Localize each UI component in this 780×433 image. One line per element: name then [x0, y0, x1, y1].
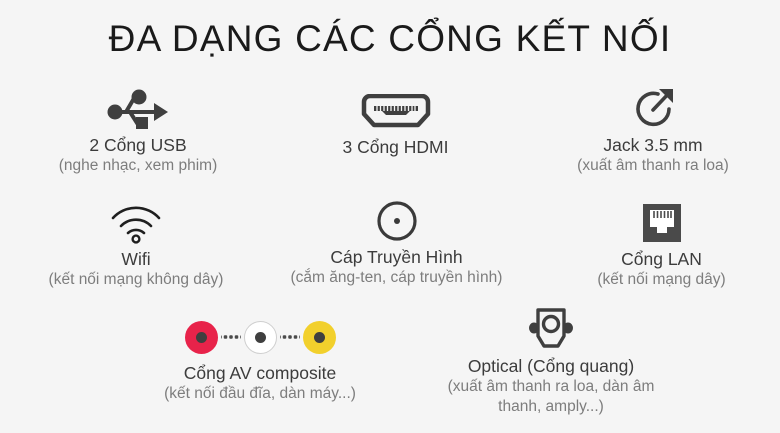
feature-sublabel: (cắm ăng-ten, cáp truyền hình) [265, 268, 528, 288]
rca-red-connector [185, 321, 218, 354]
connectivity-infographic: ĐA DẠNG CÁC CỔNG KẾT NỐI 2 Cổng USB (ngh… [0, 0, 780, 433]
feature-optical: Optical (Cổng quang) (xuất âm thanh ra l… [426, 305, 676, 417]
coaxial-port-icon [265, 196, 528, 246]
feature-lan: Cổng LAN (kết nối mạng dây) [545, 198, 778, 290]
feature-sublabel: (nghe nhạc, xem phim) [18, 156, 258, 176]
feature-label: 2 Cổng USB [18, 134, 258, 156]
feature-label: Jack 3.5 mm [533, 134, 773, 156]
feature-label: Cổng AV composite [144, 362, 376, 384]
rca-yellow-connector [303, 321, 336, 354]
rca-dotted-link [221, 335, 241, 339]
feature-label: Cáp Truyền Hình [265, 246, 528, 268]
optical-toslink-icon [426, 305, 676, 355]
feature-jack: Jack 3.5 mm (xuất âm thanh ra loa) [533, 84, 773, 176]
feature-coaxial: Cáp Truyền Hình (cắm ăng-ten, cáp truyền… [265, 196, 528, 288]
rca-dotted-link [280, 335, 300, 339]
feature-wifi: Wifi (kết nối mạng không dây) [12, 198, 260, 290]
hdmi-port-icon [288, 86, 503, 136]
feature-hdmi: 3 Cổng HDMI [288, 86, 503, 158]
lan-rj45-icon [545, 198, 778, 248]
feature-label: 3 Cổng HDMI [288, 136, 503, 158]
rca-white-connector [244, 321, 277, 354]
feature-av-composite: Cổng AV composite (kết nối đầu đĩa, dàn … [144, 312, 376, 404]
page-title: ĐA DẠNG CÁC CỔNG KẾT NỐI [0, 18, 780, 60]
feature-sublabel: (xuất âm thanh ra loa, dàn âm thanh, amp… [426, 377, 676, 417]
feature-usb: 2 Cổng USB (nghe nhạc, xem phim) [18, 84, 258, 176]
feature-sublabel: (xuất âm thanh ra loa) [533, 156, 773, 176]
feature-sublabel: (kết nối mạng không dây) [12, 270, 260, 290]
feature-sublabel: (kết nối đầu đĩa, dàn máy...) [144, 384, 376, 404]
feature-label: Optical (Cổng quang) [426, 355, 676, 377]
rca-composite-icon [144, 312, 376, 362]
wifi-icon [12, 198, 260, 248]
audio-jack-arrow-icon [533, 84, 773, 134]
feature-label: Cổng LAN [545, 248, 778, 270]
usb-icon [18, 84, 258, 134]
feature-label: Wifi [12, 248, 260, 270]
feature-sublabel: (kết nối mạng dây) [545, 270, 778, 290]
